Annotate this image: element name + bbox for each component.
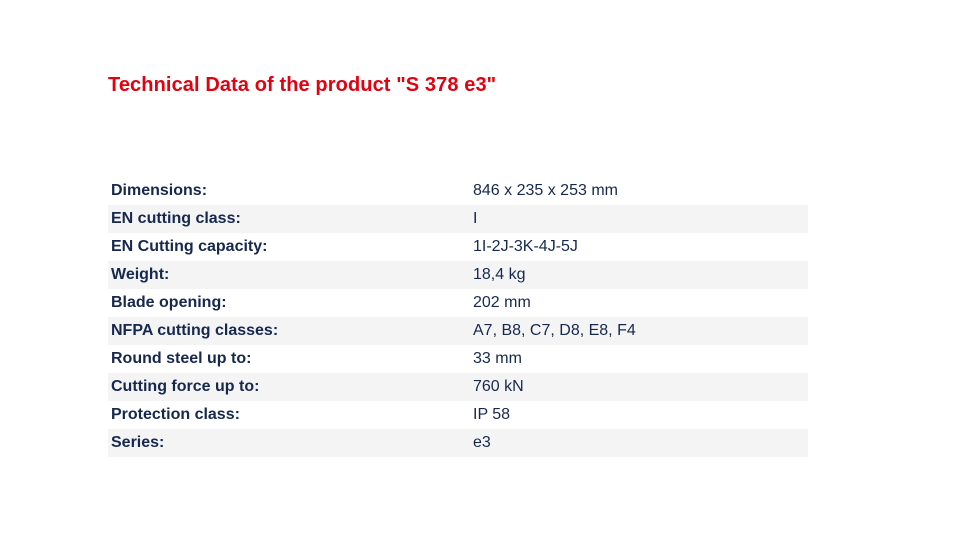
table-body: Dimensions: 846 x 235 x 253 mm EN cuttin… <box>108 177 808 457</box>
spec-label: Round steel up to: <box>108 345 471 373</box>
spec-value: 33 mm <box>471 345 808 373</box>
table-row: Round steel up to: 33 mm <box>108 345 808 373</box>
table-row: Series: e3 <box>108 429 808 457</box>
spec-value: I <box>471 205 808 233</box>
spec-label: Cutting force up to: <box>108 373 471 401</box>
spec-value: 846 x 235 x 253 mm <box>471 177 808 205</box>
spec-value: 18,4 kg <box>471 261 808 289</box>
spec-label: EN Cutting capacity: <box>108 233 471 261</box>
table-row: Protection class: IP 58 <box>108 401 808 429</box>
table-row: EN cutting class: I <box>108 205 808 233</box>
page-title: Technical Data of the product "S 378 e3" <box>108 74 496 97</box>
technical-data-table: Dimensions: 846 x 235 x 253 mm EN cuttin… <box>108 177 808 457</box>
spec-value: 1I-2J-3K-4J-5J <box>471 233 808 261</box>
table-row: Blade opening: 202 mm <box>108 289 808 317</box>
table-row: NFPA cutting classes: A7, B8, C7, D8, E8… <box>108 317 808 345</box>
spec-value: 202 mm <box>471 289 808 317</box>
spec-value: IP 58 <box>471 401 808 429</box>
spec-label: Dimensions: <box>108 177 471 205</box>
spec-label: Weight: <box>108 261 471 289</box>
spec-value: 760 kN <box>471 373 808 401</box>
spec-label: Series: <box>108 429 471 457</box>
spec-value: e3 <box>471 429 808 457</box>
technical-data-page: Technical Data of the product "S 378 e3"… <box>0 0 963 537</box>
table-row: Weight: 18,4 kg <box>108 261 808 289</box>
spec-value: A7, B8, C7, D8, E8, F4 <box>471 317 808 345</box>
table-row: Cutting force up to: 760 kN <box>108 373 808 401</box>
table-row: Dimensions: 846 x 235 x 253 mm <box>108 177 808 205</box>
spec-label: EN cutting class: <box>108 205 471 233</box>
spec-label: Protection class: <box>108 401 471 429</box>
spec-label: Blade opening: <box>108 289 471 317</box>
spec-label: NFPA cutting classes: <box>108 317 471 345</box>
table-row: EN Cutting capacity: 1I-2J-3K-4J-5J <box>108 233 808 261</box>
